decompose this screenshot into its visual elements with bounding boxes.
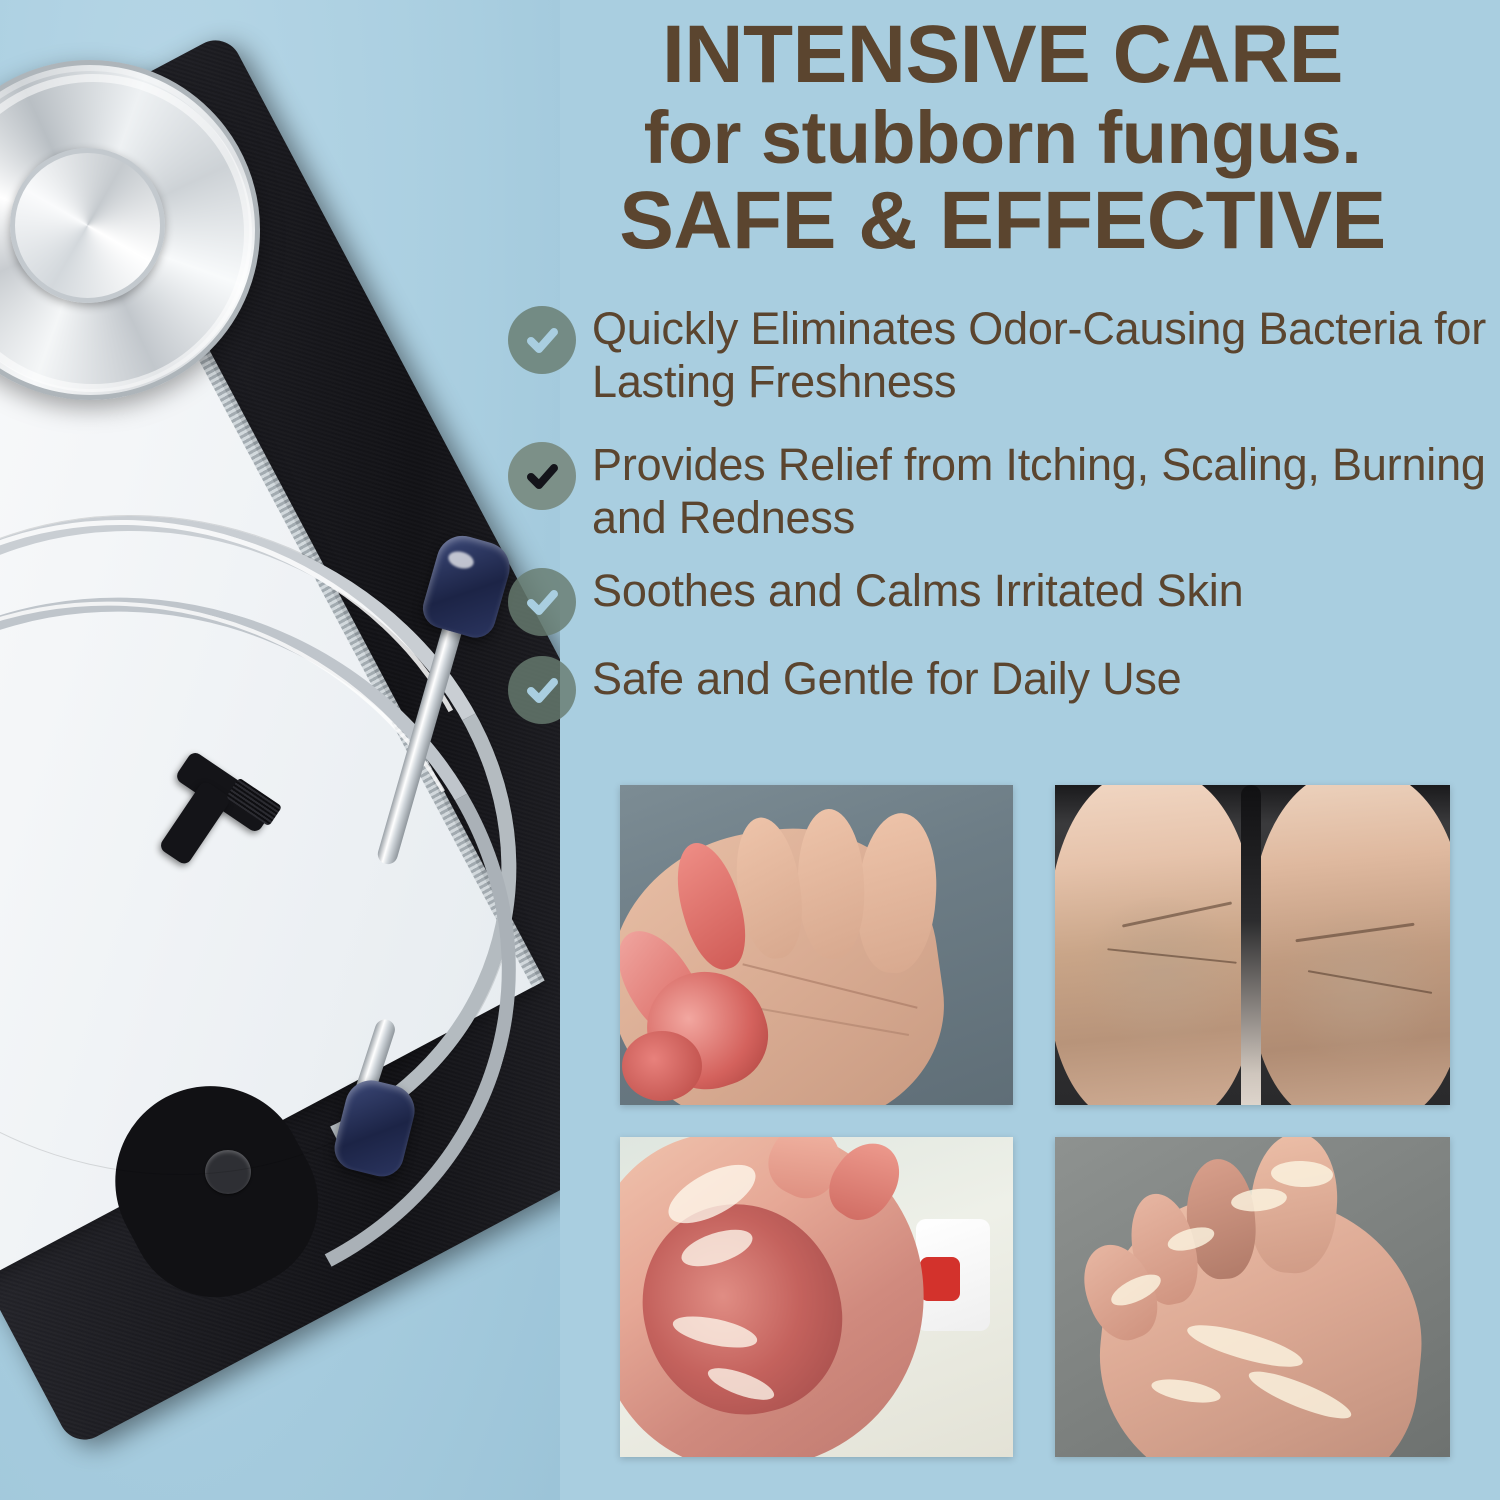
headline-line-3: SAFE & EFFECTIVE <box>510 178 1495 264</box>
benefit-text: Quickly Eliminates Odor-Causing Bacteria… <box>592 300 1498 408</box>
condition-photo-bottom-right <box>1055 1137 1450 1457</box>
benefit-list: Quickly Eliminates Odor-Causing Bacteria… <box>508 300 1498 738</box>
dry-skin-patch <box>1273 911 1448 1061</box>
benefit-item: Soothes and Calms Irritated Skin <box>508 562 1498 636</box>
product-infographic: INTENSIVE CARE for stubborn fungus. SAFE… <box>0 0 1500 1500</box>
content-panel: INTENSIVE CARE for stubborn fungus. SAFE… <box>500 0 1500 1500</box>
chestpiece-hub <box>10 148 165 303</box>
heel-gap <box>1241 785 1261 1105</box>
check-circle-icon <box>508 306 576 374</box>
stethoscope-clipboard-photo <box>0 0 560 1500</box>
condition-photo-bottom-left <box>620 1137 1013 1457</box>
dry-skin-patch <box>1077 897 1247 1047</box>
benefit-item: Safe and Gentle for Daily Use <box>508 650 1498 724</box>
background-object-red <box>920 1257 960 1301</box>
benefit-text: Safe and Gentle for Daily Use <box>592 650 1182 705</box>
condition-photo-top-right <box>1055 785 1450 1105</box>
skin-lesion <box>622 1031 702 1101</box>
benefit-text: Provides Relief from Itching, Scaling, B… <box>592 436 1498 544</box>
headline-block: INTENSIVE CARE for stubborn fungus. SAFE… <box>510 12 1495 264</box>
condition-photo-top-left <box>620 785 1013 1105</box>
check-circle-icon <box>508 568 576 636</box>
check-circle-icon <box>508 442 576 510</box>
condition-photo-grid <box>620 785 1450 1457</box>
check-circle-icon <box>508 656 576 724</box>
benefit-text: Soothes and Calms Irritated Skin <box>592 562 1243 617</box>
benefit-item: Quickly Eliminates Odor-Causing Bacteria… <box>508 300 1498 408</box>
headline-line-2: for stubborn fungus. <box>510 98 1495 178</box>
headline-line-1: INTENSIVE CARE <box>510 12 1495 98</box>
benefit-item: Provides Relief from Itching, Scaling, B… <box>508 436 1498 544</box>
